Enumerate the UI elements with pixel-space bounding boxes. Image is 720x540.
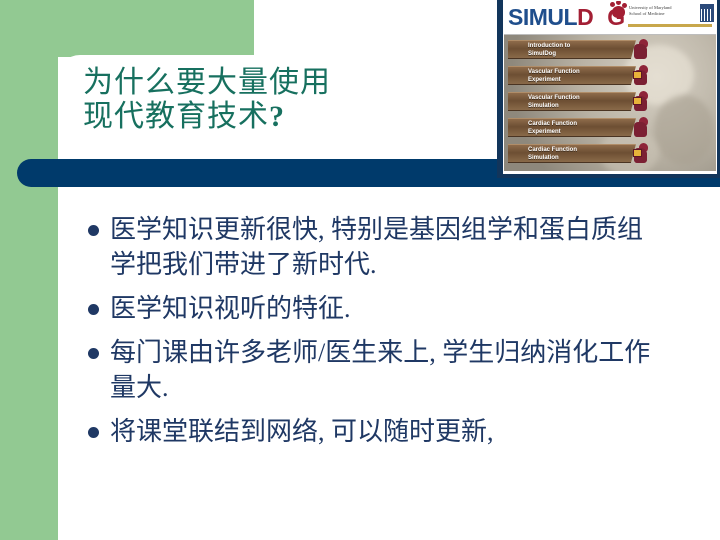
bullet-dot-icon (88, 225, 99, 236)
list-item: 每门课由许多老师/医生来上, 学生归纳消化工作量大. (88, 335, 658, 405)
school-name: School of Medicine (629, 11, 699, 17)
menu-label-line2: Experiment (528, 77, 561, 83)
menu-label-line1: Cardiac Function (528, 147, 577, 153)
sidebar-item-introduction[interactable]: Introduction to SimulDog (508, 40, 636, 59)
list-item: 医学知识更新很快, 特别是基因组学和蛋白质组学把我们带进了新时代. (88, 212, 658, 282)
menu-label-line1: Introduction to (528, 43, 570, 49)
bullet-text: 将课堂联结到网络, 可以随时更新, (110, 414, 658, 449)
simuldog-logo-d: D (577, 4, 593, 30)
dog-mascot-icon (632, 117, 652, 139)
sidebar-item-cardiac-experiment[interactable]: Cardiac Function Experiment (508, 118, 636, 137)
university-credit: University of Maryland School of Medicin… (629, 5, 699, 17)
bullet-text: 医学知识更新很快, 特别是基因组学和蛋白质组学把我们带进了新时代. (110, 212, 658, 282)
sidebar-item-vascular-experiment[interactable]: Vascular Function Experiment (508, 66, 636, 85)
paw-print-icon (612, 6, 625, 18)
presentation-slide: 为什么要大量使用现代教育技术? 医学知识更新很快, 特别是基因组学和蛋白质组学把… (0, 0, 720, 540)
simuldog-menu: Introduction to SimulDog Vascular Functi… (508, 40, 636, 170)
university-building-icon (700, 4, 714, 22)
slide-title-question-mark: ? (269, 100, 285, 133)
list-item: 医学知识视听的特征. (88, 291, 658, 326)
slide-bullet-list: 医学知识更新很快, 特别是基因组学和蛋白质组学把我们带进了新时代. 医学知识视听… (88, 212, 658, 458)
dog-mascot-icon (632, 65, 652, 87)
simuldog-screenshot: SIMULDG University of Maryland School of… (503, 0, 717, 174)
menu-label-line2: Experiment (528, 129, 561, 135)
dog-mascot-icon (632, 143, 652, 165)
green-left-strip (0, 0, 58, 540)
menu-label-line2: Simulation (528, 155, 559, 161)
simuldog-logo: SIMULDG (508, 3, 625, 31)
simuldog-main-area: Introduction to SimulDog Vascular Functi… (504, 35, 716, 174)
slide-title-line-2: 现代教育技术 (83, 100, 269, 133)
simuldog-header: SIMULDG University of Maryland School of… (504, 1, 716, 35)
slide-title: 为什么要大量使用现代教育技术? (83, 66, 503, 134)
menu-label-line1: Cardiac Function (528, 121, 577, 127)
green-top-block (0, 0, 254, 57)
bullet-dot-icon (88, 348, 99, 359)
dog-mascot-icon (632, 91, 652, 113)
list-item: 将课堂联结到网络, 可以随时更新, (88, 414, 658, 449)
bullet-dot-icon (88, 427, 99, 438)
slide-title-line-1: 为什么要大量使用 (83, 66, 331, 99)
menu-label-line1: Vascular Function (528, 69, 580, 75)
menu-label-line1: Vascular Function (528, 95, 580, 101)
screenshot-footer-strip (504, 171, 716, 174)
gold-rule-divider (628, 24, 712, 27)
dog-mascot-icon (632, 39, 652, 61)
simuldog-logo-simul: SIMUL (508, 4, 577, 30)
bullet-text: 每门课由许多老师/医生来上, 学生归纳消化工作量大. (110, 335, 658, 405)
menu-label-line2: SimulDog (528, 51, 556, 57)
sidebar-item-cardiac-simulation[interactable]: Cardiac Function Simulation (508, 144, 636, 163)
bullet-text: 医学知识视听的特征. (110, 291, 658, 326)
bullet-dot-icon (88, 304, 99, 315)
sidebar-item-vascular-simulation[interactable]: Vascular Function Simulation (508, 92, 636, 111)
menu-label-line2: Simulation (528, 103, 559, 109)
photo-shadow (654, 95, 714, 165)
